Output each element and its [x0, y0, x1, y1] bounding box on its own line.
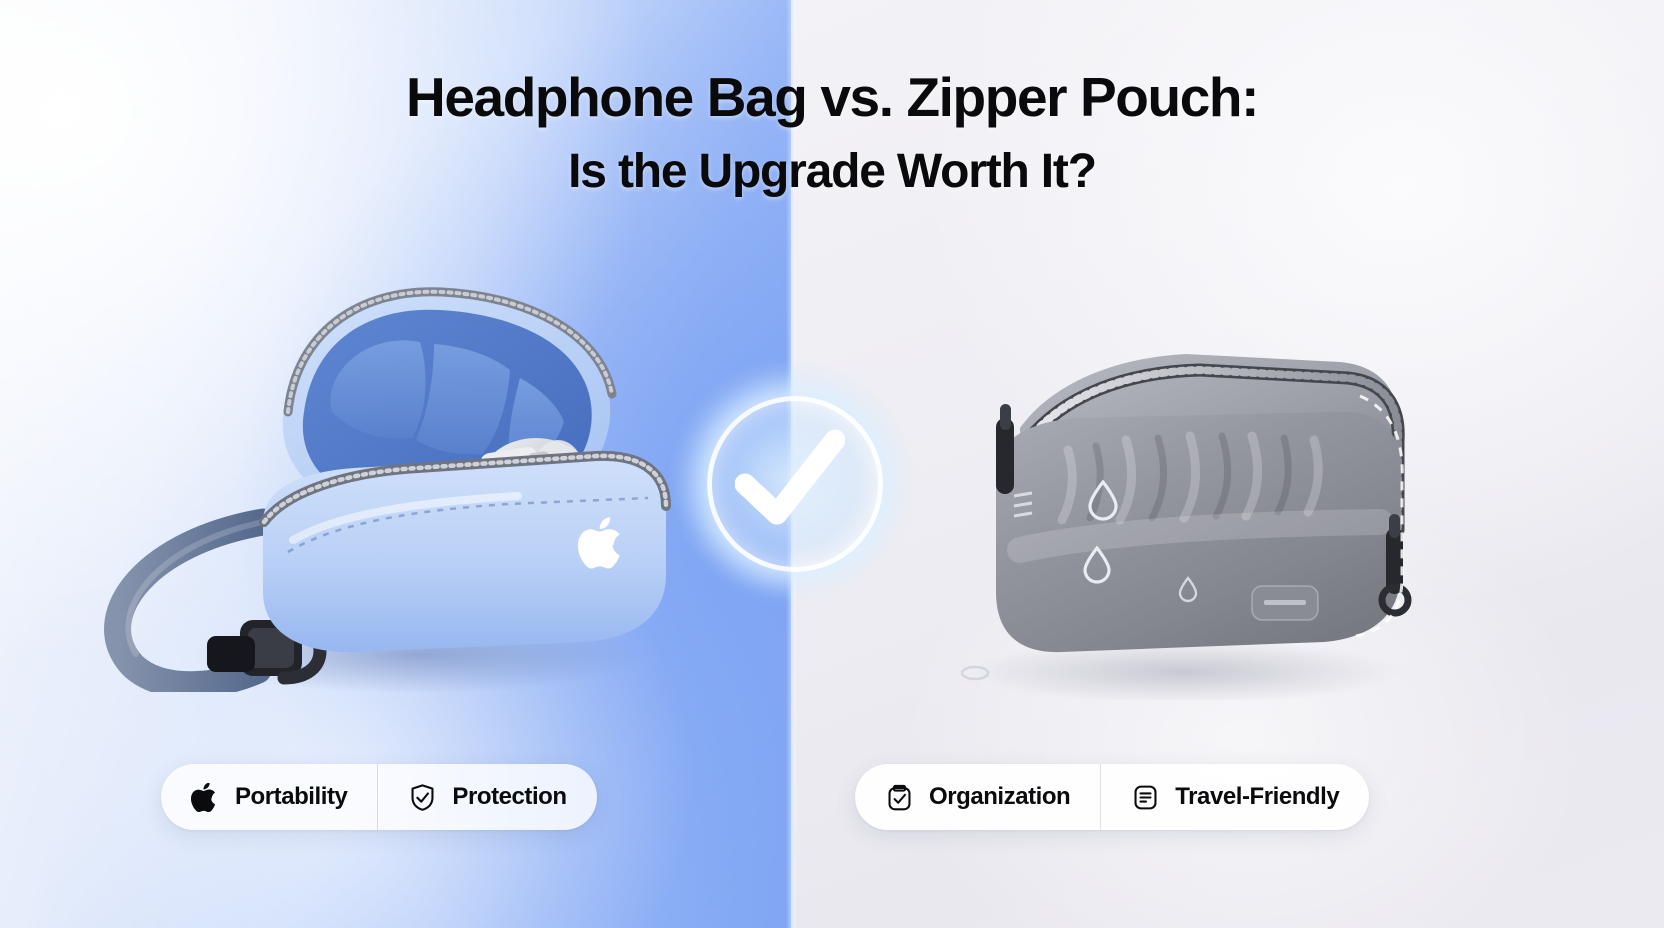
check-mark-icon	[735, 426, 845, 532]
badge-travel-friendly[interactable]: Travel-Friendly	[1100, 764, 1369, 830]
pouch-brand-tag	[1252, 586, 1318, 620]
left-feature-pill: Portability Protection	[161, 764, 597, 830]
badge-label: Travel-Friendly	[1175, 783, 1339, 811]
apple-logo-icon	[191, 783, 220, 812]
document-lines-icon	[1131, 783, 1160, 812]
clipboard-check-icon	[885, 783, 914, 812]
comparison-graphic: Headphone Bag vs. Zipper Pouch: Is the U…	[0, 0, 1664, 928]
right-feature-pill: Organization Travel-Friendly	[855, 764, 1369, 830]
shield-check-icon	[408, 783, 437, 812]
blue-headphone-bag-image	[88, 222, 688, 692]
center-check-badge	[707, 396, 873, 562]
bag-body	[263, 454, 666, 652]
badge-label: Protection	[452, 783, 566, 811]
badge-portability[interactable]: Portability	[161, 764, 377, 830]
badge-label: Organization	[929, 783, 1070, 811]
badge-organization[interactable]: Organization	[855, 764, 1100, 830]
badge-label: Portability	[235, 783, 347, 811]
gray-zipper-pouch-image	[900, 300, 1420, 700]
badge-protection[interactable]: Protection	[377, 764, 596, 830]
